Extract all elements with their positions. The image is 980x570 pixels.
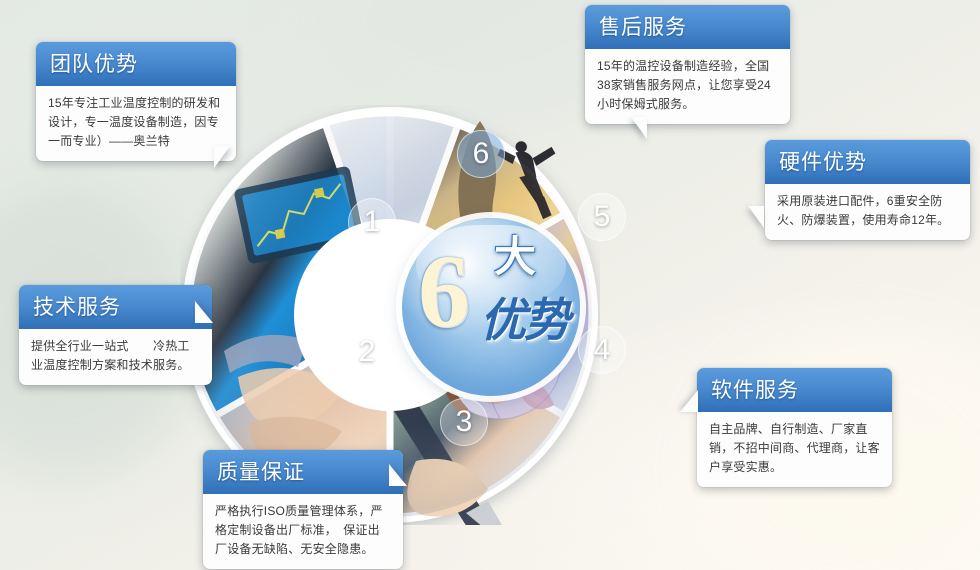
callout-quality-tail xyxy=(389,464,407,486)
segment-number-5[interactable]: 5 xyxy=(578,193,626,241)
segment-number-6[interactable]: 6 xyxy=(457,130,505,178)
callout-technical-tail xyxy=(195,301,213,323)
callout-hardware-body: 采用原装进口配件，6重安全防火、防爆装置，使用寿命12年。 xyxy=(765,184,970,240)
callout-after-sales-body: 15年的温控设备制造经验，全国38家销售服务网点，让您享受24小时保姆式服务。 xyxy=(585,49,790,124)
segment-number-2[interactable]: 2 xyxy=(343,328,391,376)
callout-team-advantage[interactable]: 团队优势 15年专注工业温度控制的研发和设计，专一温度设备制造，因专一而专业）—… xyxy=(36,42,236,161)
segment-number-1[interactable]: 1 xyxy=(348,198,396,246)
callout-software[interactable]: 软件服务 自主品牌、自行制造、厂家直销，不招中间商、代理商，让客户享受实惠。 xyxy=(697,368,892,487)
callout-team-title: 团队优势 xyxy=(36,42,236,86)
segment-number-4[interactable]: 4 xyxy=(578,326,626,374)
callout-quality-body: 严格执行ISO质量管理体系，严格定制设备出厂标准， 保证出厂设备无缺陷、无安全隐… xyxy=(203,494,403,569)
callout-technical[interactable]: 技术服务 提供全行业一站式 冷热工业温度控制方案和技术服务。 xyxy=(19,285,212,385)
callout-hardware[interactable]: 硬件优势 采用原装进口配件，6重安全防火、防爆装置，使用寿命12年。 xyxy=(765,140,970,240)
callout-software-body: 自主品牌、自行制造、厂家直销，不招中间商、代理商，让客户享受实惠。 xyxy=(697,412,892,487)
callout-quality-title: 质量保证 xyxy=(203,450,403,494)
callout-team-body: 15年专注工业温度控制的研发和设计，专一温度设备制造，因专一而专业）——奥兰特 xyxy=(36,86,236,161)
callout-technical-body: 提供全行业一站式 冷热工业温度控制方案和技术服务。 xyxy=(19,329,212,385)
callout-hardware-title: 硬件优势 xyxy=(765,140,970,184)
callout-technical-title: 技术服务 xyxy=(19,285,212,329)
callout-software-tail xyxy=(680,390,698,412)
badge-number: 6 xyxy=(418,240,470,344)
badge-word-top: 大 xyxy=(494,236,536,278)
badge-word-bottom: 优势 xyxy=(480,296,568,346)
callout-quality[interactable]: 质量保证 严格执行ISO质量管理体系，严格定制设备出厂标准， 保证出厂设备无缺陷… xyxy=(203,450,403,569)
infographic-canvas: 6 大 优势 1 2 3 4 5 6 团队优势 15年专注工业温度控制的研发和设… xyxy=(0,0,980,570)
callout-software-title: 软件服务 xyxy=(697,368,892,412)
callout-after-sales[interactable]: 售后服务 15年的温控设备制造经验，全国38家销售服务网点，让您享受24小时保姆… xyxy=(585,5,790,124)
center-badge: 6 大 优势 xyxy=(402,218,580,396)
callout-after-sales-tail xyxy=(631,117,647,139)
segment-number-3[interactable]: 3 xyxy=(440,398,488,446)
callout-team-tail xyxy=(214,146,230,168)
callout-after-sales-title: 售后服务 xyxy=(585,5,790,49)
callout-hardware-tail xyxy=(748,206,764,228)
